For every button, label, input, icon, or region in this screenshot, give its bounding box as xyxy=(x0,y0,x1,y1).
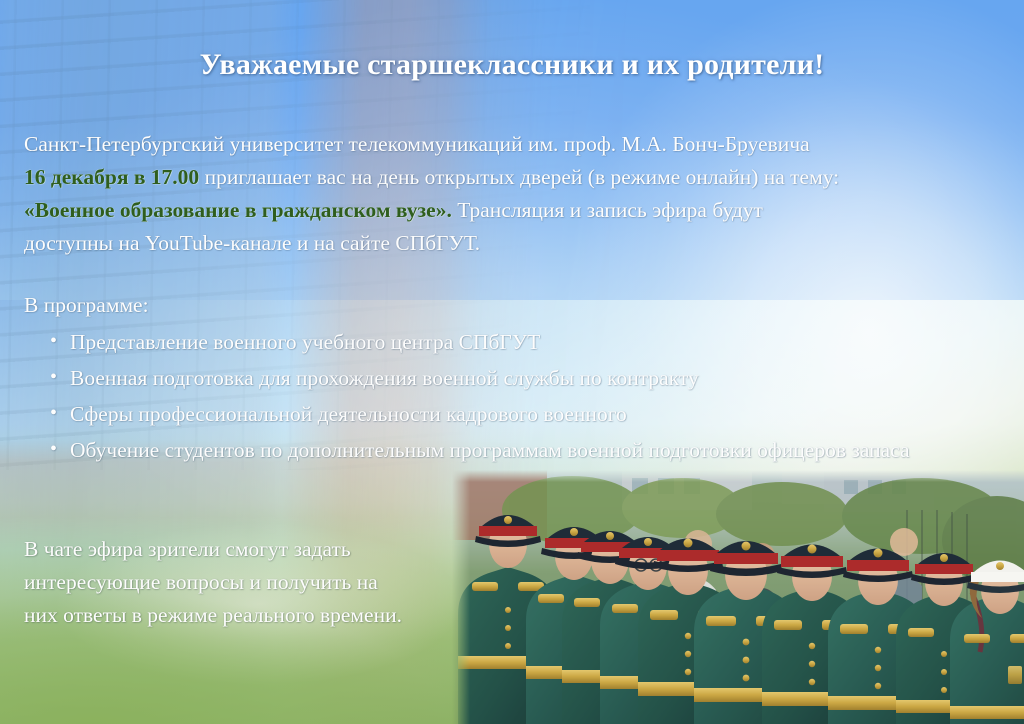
closing-paragraph: В чате эфира зрители смогут задать интер… xyxy=(24,533,444,632)
cadets-photo-illustration xyxy=(452,470,1024,724)
intro-line-2-rest: приглашает вас на день открытых дверей (… xyxy=(199,165,839,189)
topic-highlight: «Военное образование в гражданском вузе»… xyxy=(24,198,452,222)
poster-canvas: Уважаемые старшеклассники и их родители!… xyxy=(0,0,1024,724)
closing-line-2: интересующие вопросы и получить на xyxy=(24,566,444,599)
date-highlight: 16 декабря в 17.00 xyxy=(24,165,199,189)
list-item: Сферы профессиональной деятельности кадр… xyxy=(70,397,1024,431)
page-title: Уважаемые старшеклассники и их родители! xyxy=(0,48,1024,82)
intro-paragraph: Санкт-Петербургский университет телекомм… xyxy=(24,128,976,260)
intro-line-2: 16 декабря в 17.00 приглашает вас на ден… xyxy=(24,161,976,194)
list-item: Представление военного учебного центра С… xyxy=(70,325,1024,359)
list-item: Обучение студентов по дополнительным про… xyxy=(70,433,1024,467)
list-item: Военная подготовка для прохождения военн… xyxy=(70,361,1024,395)
intro-line-3: «Военное образование в гражданском вузе»… xyxy=(24,194,976,227)
cadets-photo xyxy=(452,470,1024,724)
program-heading: В программе: xyxy=(24,293,149,318)
closing-line-3: них ответы в режиме реального времени. xyxy=(24,599,444,632)
intro-line-1: Санкт-Петербургский университет телекомм… xyxy=(24,128,976,161)
intro-line-4: доступны на YouTube-канале и на сайте СП… xyxy=(24,227,976,260)
intro-line-3-rest: Трансляция и запись эфира будут xyxy=(452,198,763,222)
closing-line-1: В чате эфира зрители смогут задать xyxy=(24,533,444,566)
program-list: Представление военного учебного центра С… xyxy=(24,325,1024,469)
